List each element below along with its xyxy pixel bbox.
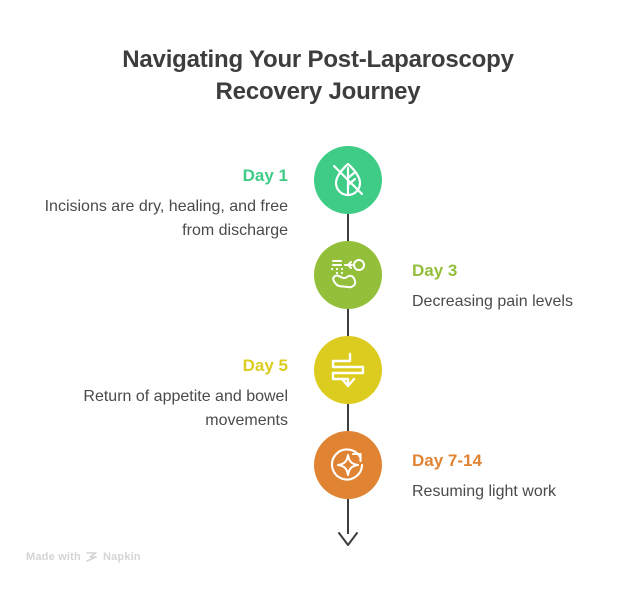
step-description-2: Decreasing pain levels	[412, 290, 636, 313]
timeline-node-day-1[interactable]	[314, 146, 382, 214]
timeline-connector-1	[347, 214, 349, 242]
bowel-movement-arrow-icon	[326, 348, 370, 392]
timeline-node-day-3[interactable]	[314, 241, 382, 309]
decreasing-pain-icon	[326, 253, 370, 297]
timeline-node-day-5[interactable]	[314, 336, 382, 404]
napkin-watermark: Made with Napkin	[26, 551, 141, 563]
timeline-connector-3	[347, 404, 349, 432]
day-label-2: Day 3	[412, 261, 636, 281]
refresh-sparkle-icon	[326, 443, 370, 487]
timeline-end-arrow-icon	[334, 524, 362, 546]
step-text-day-1: Day 1 Incisions are dry, healing, and fr…	[18, 166, 288, 242]
step-text-day-3: Day 3 Decreasing pain levels	[412, 261, 636, 314]
timeline-node-day-7-14[interactable]	[314, 431, 382, 499]
no-discharge-leaf-icon	[326, 158, 370, 202]
step-text-day-7-14: Day 7-14 Resuming light work	[412, 451, 636, 504]
step-text-day-5: Day 5 Return of appetite and bowel movem…	[18, 356, 288, 432]
day-label-4: Day 7-14	[412, 451, 636, 471]
step-description-4: Resuming light work	[412, 480, 636, 503]
timeline-connector-2	[347, 309, 349, 337]
napkin-logo-icon	[86, 551, 98, 563]
day-label-3: Day 5	[18, 356, 288, 376]
watermark-prefix-label: Made with	[26, 551, 81, 563]
watermark-brand-label: Napkin	[103, 551, 141, 563]
recovery-timeline: Day 1 Incisions are dry, healing, and fr…	[0, 0, 636, 589]
day-label-1: Day 1	[18, 166, 288, 186]
step-description-3: Return of appetite and bowel movements	[18, 385, 288, 431]
step-description-1: Incisions are dry, healing, and free fro…	[18, 195, 288, 241]
